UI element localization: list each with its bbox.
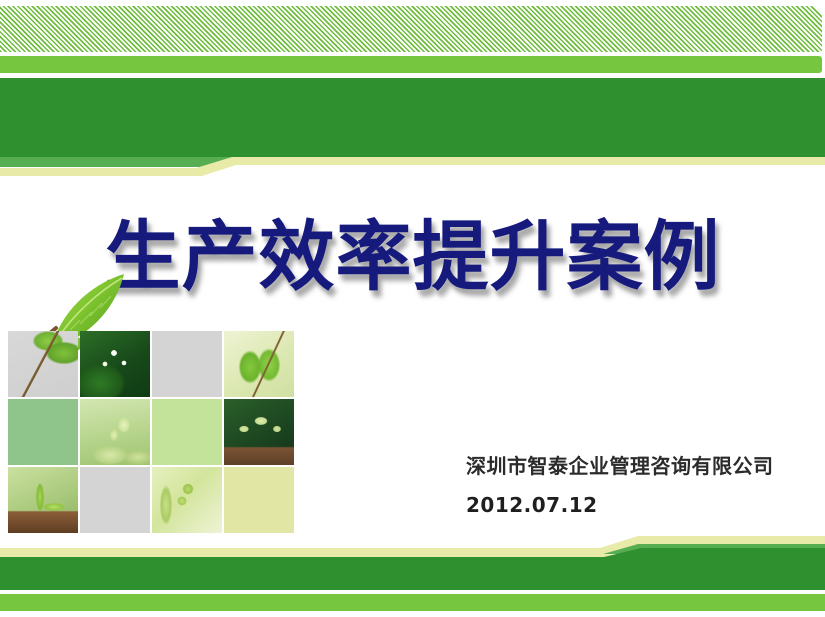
slide-title-container: 生产效率提升案例 [0, 202, 825, 312]
presentation-date: 2012.07.12 [466, 493, 816, 517]
presentation-slide: 生产效率提升案例 [0, 0, 825, 617]
bottom-light-green-bar [0, 594, 825, 611]
top-light-green-bar [0, 56, 822, 73]
cream-swatch [224, 467, 294, 533]
sage-green-swatch [8, 399, 78, 465]
footer-text-block: 深圳市智泰企业管理咨询有限公司 2012.07.12 [466, 450, 816, 517]
top-hatch-band [0, 6, 822, 52]
top-dark-green-banner [0, 78, 825, 166]
moss-sprout-photo [80, 399, 150, 465]
twin-leaves-photo [224, 331, 294, 397]
slide-title: 生产效率提升案例 [105, 219, 721, 295]
photo-mosaic [8, 331, 296, 537]
company-name: 深圳市智泰企业管理咨询有限公司 [466, 450, 816, 479]
gray-swatch [152, 331, 222, 397]
green-bud-photo [152, 467, 222, 533]
white-flowers-photo [80, 331, 150, 397]
gray-swatch-2 [80, 467, 150, 533]
three-seedlings-photo [224, 399, 294, 465]
light-green-swatch [152, 399, 222, 465]
grass-sprout-photo [8, 467, 78, 533]
branch-with-leaves-photo [8, 331, 78, 397]
